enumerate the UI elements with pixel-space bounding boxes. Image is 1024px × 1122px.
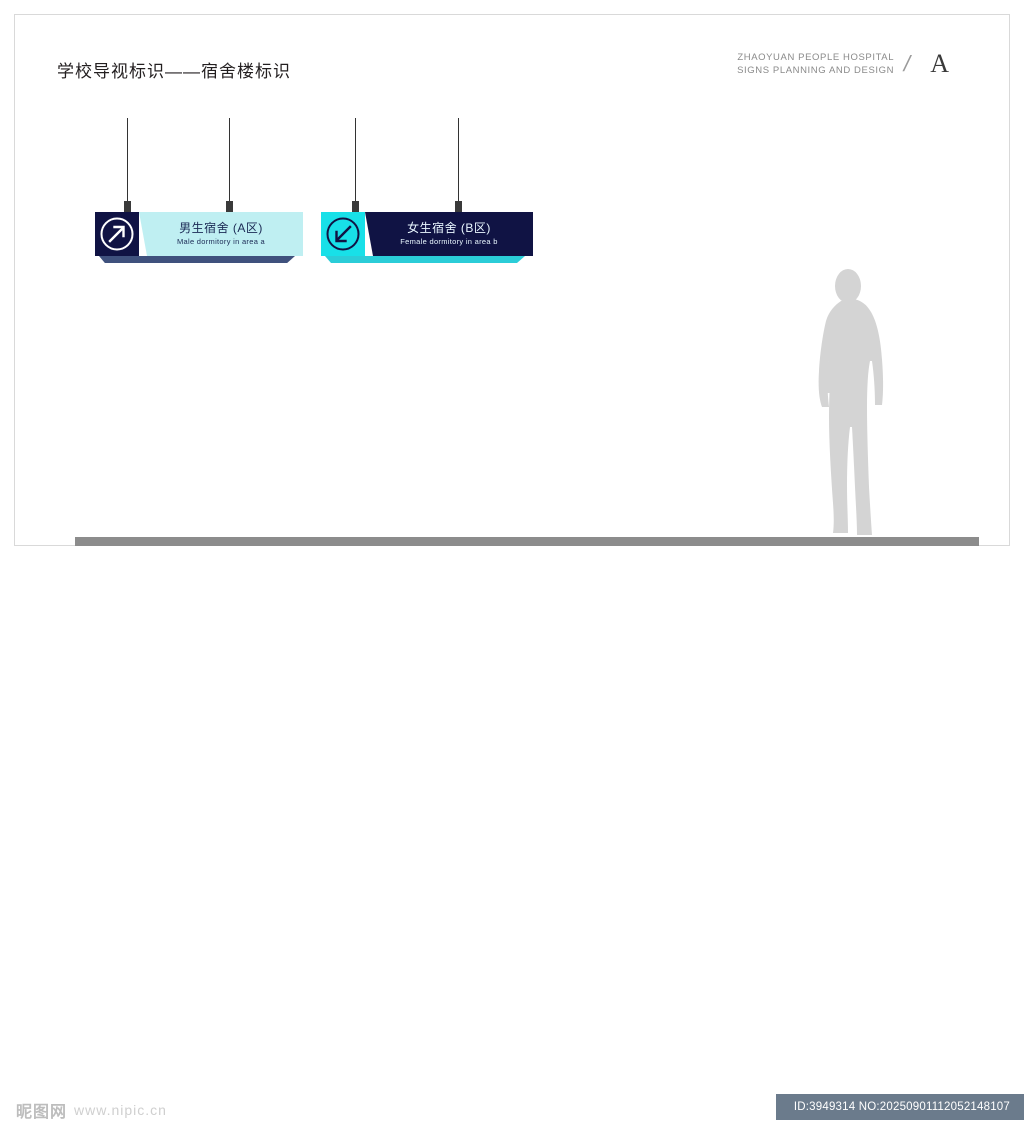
sign-board-male[interactable]: 男生宿舍 (A区) Male dormitory in area a — [95, 212, 303, 256]
sign-label-cn-female: 女生宿舍 (B区) — [407, 221, 491, 235]
sign-label-cn-male: 男生宿舍 (A区) — [179, 221, 263, 235]
sign-text-box-female: 女生宿舍 (B区) Female dormitory in area b — [365, 212, 533, 256]
sign-label-en-male: Male dormitory in area a — [177, 237, 265, 247]
hanger-rod-right-cap — [455, 201, 462, 212]
brand-line-1: ZHAOYUAN PEOPLE HOSPITAL — [737, 51, 894, 64]
page-letter: A — [930, 51, 949, 77]
sign-label-en-female: Female dormitory in area b — [400, 237, 497, 247]
hanger-rod-right — [229, 118, 230, 204]
brand-line-2: SIGNS PLANNING AND DESIGN — [737, 64, 894, 77]
page-root: 学校导视标识——宿舍楼标识 ZHAOYUAN PEOPLE HOSPITAL S… — [0, 0, 1024, 586]
human-scale-silhouette — [805, 267, 897, 549]
watermark: 昵图网 www.nipic.cn — [16, 1098, 167, 1122]
hanger-rod-left — [127, 118, 128, 204]
watermark-logo: 昵图网 — [16, 1098, 67, 1122]
sign-text-box-male: 男生宿舍 (A区) Male dormitory in area a — [139, 212, 303, 256]
hanger-rod-left-cap — [124, 201, 131, 212]
sign-base-shadow-male — [99, 256, 295, 263]
sign-icon-box-female — [321, 212, 365, 256]
arrow-up-right-icon — [100, 217, 134, 251]
sign-base-shadow-female — [325, 256, 525, 263]
brand-text: ZHAOYUAN PEOPLE HOSPITAL SIGNS PLANNING … — [737, 51, 894, 77]
asset-id-bar: ID:3949314 NO:20250901112052148107 — [776, 1094, 1024, 1120]
slash-divider-icon: / — [902, 53, 913, 75]
arrow-down-left-icon — [326, 217, 360, 251]
ground-bar — [75, 537, 979, 546]
hanger-rod-right-cap — [226, 201, 233, 212]
hanger-rod-left-cap — [352, 201, 359, 212]
design-canvas: 学校导视标识——宿舍楼标识 ZHAOYUAN PEOPLE HOSPITAL S… — [14, 14, 1010, 546]
hanger-rod-right — [458, 118, 459, 204]
watermark-url: www.nipic.cn — [74, 1102, 167, 1118]
hanger-rod-left — [355, 118, 356, 204]
header-brand-block: ZHAOYUAN PEOPLE HOSPITAL SIGNS PLANNING … — [737, 51, 949, 77]
footer: 昵图网 www.nipic.cn ID:3949314 NO:202509011… — [0, 546, 1024, 586]
page-title: 学校导视标识——宿舍楼标识 — [57, 57, 291, 82]
sign-board-female[interactable]: 女生宿舍 (B区) Female dormitory in area b — [321, 212, 533, 256]
sign-icon-box-male — [95, 212, 139, 256]
